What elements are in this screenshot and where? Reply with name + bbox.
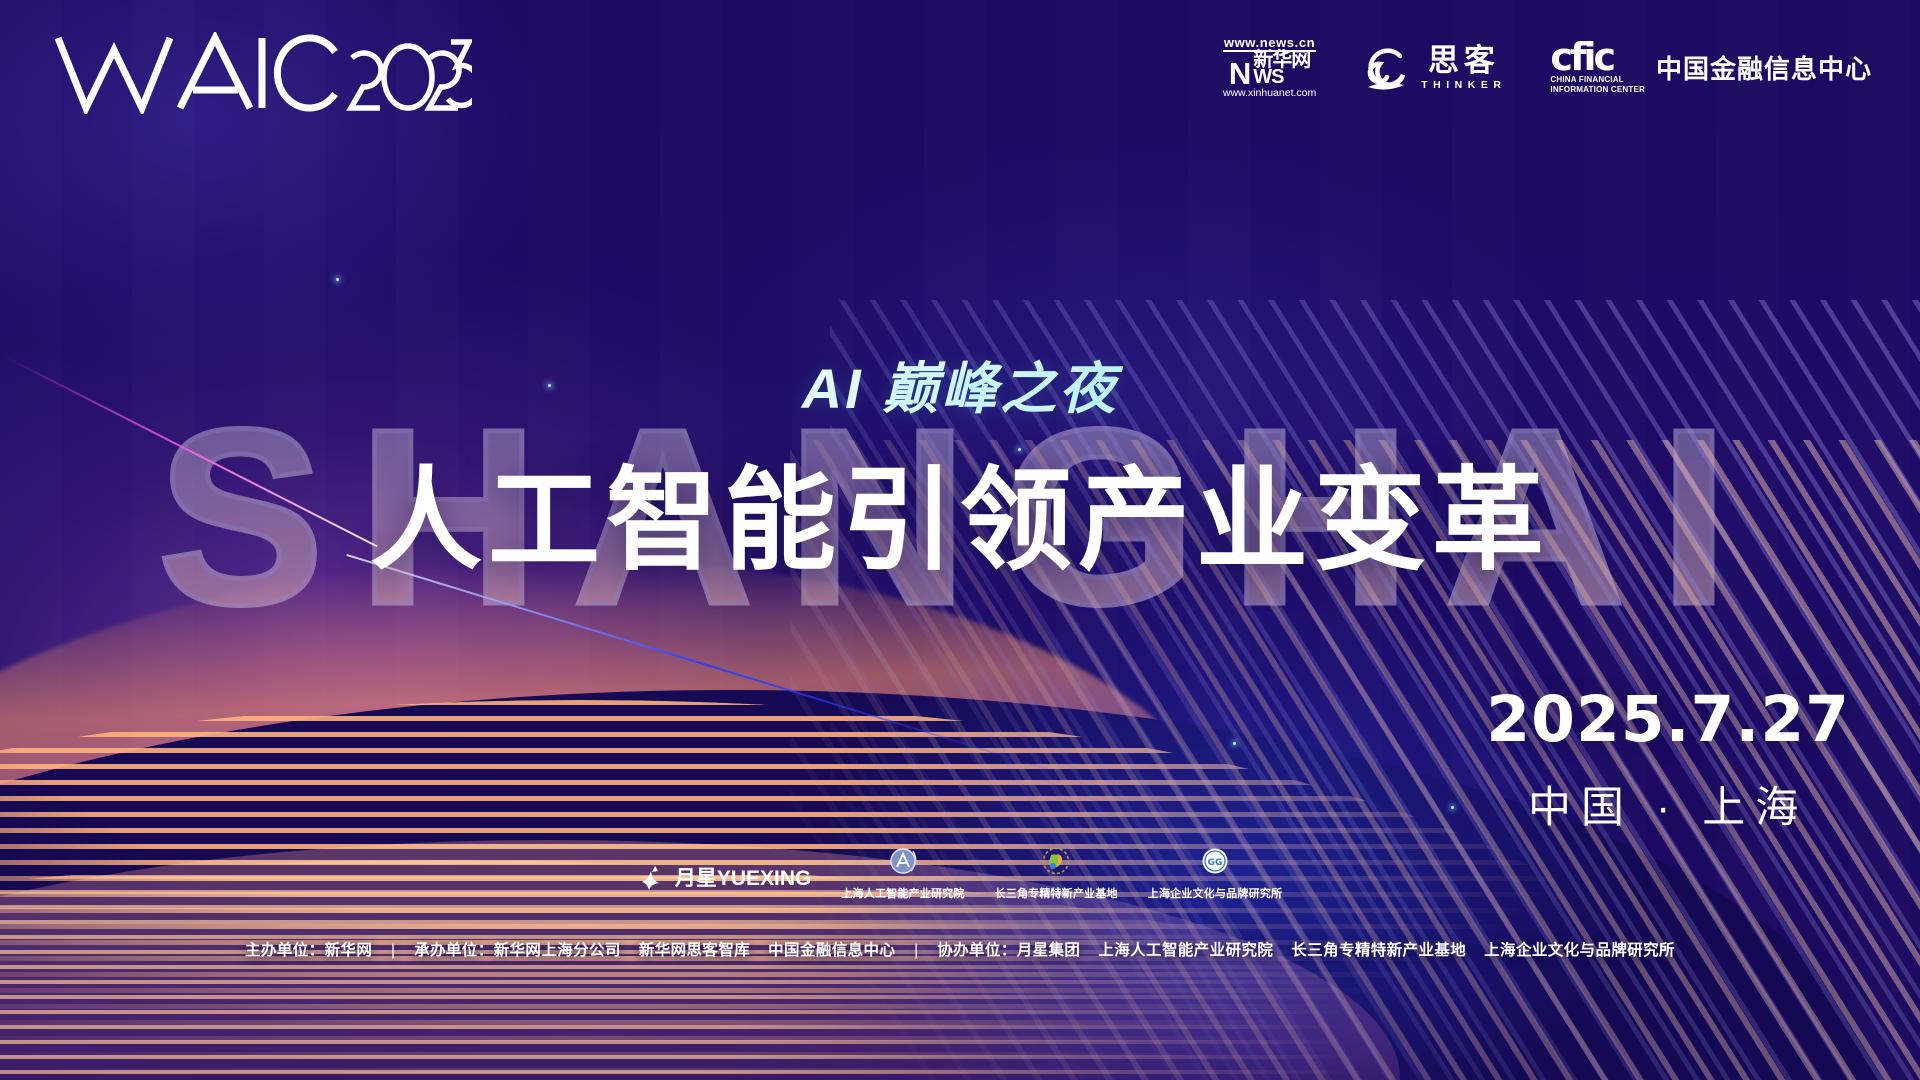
event-poster: SHANGHAI [0, 0, 1920, 1080]
cfic-mark: cfic CHINA FINANCIAL INFORMATION CENTER [1550, 41, 1645, 94]
footer-coorganizer-1: 月星集团 [1017, 942, 1081, 959]
swirl-icon [1360, 42, 1412, 94]
footer-coorganizer-4: 上海企业文化与品牌研究所 [1484, 942, 1675, 959]
logo-xinhuanet: www.news.cn N 新华网 WS www.xinhuanet.com [1223, 36, 1316, 100]
xinhua-url-bottom: www.xinhuanet.com [1223, 88, 1316, 100]
partner-logos: www.news.cn N 新华网 WS www.xinhuanet.com 思… [1223, 36, 1872, 100]
event-date: 2025.7.27 [1486, 688, 1850, 751]
footer-host-value: 新华网 [325, 942, 373, 959]
yuexing-label: 月星YUEXING [675, 862, 812, 892]
event-location: 中国 · 上海 [1486, 773, 1850, 835]
event-headline: 人工智能引领产业变革 [0, 430, 1920, 592]
sponsor-logos: 月星YUEXING 上海人工智能产业研究院 长三角专精特新产业基地 [0, 846, 1920, 901]
logo-thinker: 思客 THINKER [1360, 42, 1506, 94]
sponsor-caption: 上海人工智能产业研究院 [841, 885, 964, 901]
footer-organizer-label: 承办单位： [414, 942, 494, 959]
yuexing-lockup: 月星YUEXING [638, 862, 812, 892]
sponsor-shanghai-ai-institute: 上海人工智能产业研究院 [841, 846, 964, 901]
footer-credits: 主办单位：新华网 | 承办单位：新华网上海分公司新华网思客智库中国金融信息中心 … [0, 938, 1920, 960]
cfic-wordmark: cfic [1550, 41, 1645, 73]
cfic-subtitle-line2: INFORMATION CENTER [1550, 85, 1645, 94]
xinhua-ws-letters: WS [1253, 69, 1283, 86]
footer-coorganizer-3: 长三角专精特新产业基地 [1291, 942, 1466, 959]
thinker-wordmark: 思客 THINKER [1421, 45, 1506, 91]
sponsor-brand-institute: GG 上海企业文化与品牌研究所 [1148, 846, 1282, 901]
footer-coorganizer-label: 协办单位： [937, 942, 1017, 959]
footer-organizer-2: 新华网思客智库 [639, 942, 750, 959]
footer-host-label: 主办单位： [245, 942, 325, 959]
footer-separator: | [914, 942, 918, 959]
brand-institute-icon: GG [1198, 846, 1232, 880]
xinhua-n-letter: N [1229, 61, 1250, 86]
xinhua-stack: 新华网 WS [1253, 52, 1310, 86]
ai-globe-icon [886, 846, 920, 880]
cfic-cn-name: 中国金融信息中心 [1656, 49, 1872, 86]
footer-organizer-3: 中国金融信息中心 [768, 942, 895, 959]
sparkle-icon [1233, 742, 1236, 745]
sponsor-yangtze-delta-base: 长三角专精特新产业基地 [995, 846, 1118, 901]
event-date-block: 2025.7.27 中国 · 上海 [1486, 688, 1850, 835]
thinker-cn-name: 思客 [1428, 45, 1500, 76]
footer-coorganizer-2: 上海人工智能产业研究院 [1098, 942, 1273, 959]
logo-cfic: cfic CHINA FINANCIAL INFORMATION CENTER … [1550, 41, 1872, 94]
footer-separator: | [391, 942, 395, 959]
sponsor-caption: 长三角专精特新产业基地 [995, 885, 1118, 901]
svg-text:GG: GG [1208, 858, 1223, 868]
yuexing-star-icon [638, 862, 668, 892]
yangtze-delta-icon [1039, 846, 1073, 880]
sponsor-caption: 上海企业文化与品牌研究所 [1148, 885, 1282, 901]
thinker-en-name: THINKER [1421, 79, 1506, 91]
cfic-subtitle-line1: CHINA FINANCIAL [1550, 75, 1645, 84]
xinhua-wordmark: N 新华网 WS [1229, 52, 1310, 86]
sparkle-icon [1451, 806, 1454, 809]
waic-logo [52, 32, 472, 114]
sponsor-yuexing: 月星YUEXING [638, 862, 812, 901]
event-subtitle: AI 巅峰之夜 [0, 344, 1920, 425]
footer-organizer-1: 新华网上海分公司 [494, 942, 621, 959]
sparkle-icon [336, 278, 339, 281]
